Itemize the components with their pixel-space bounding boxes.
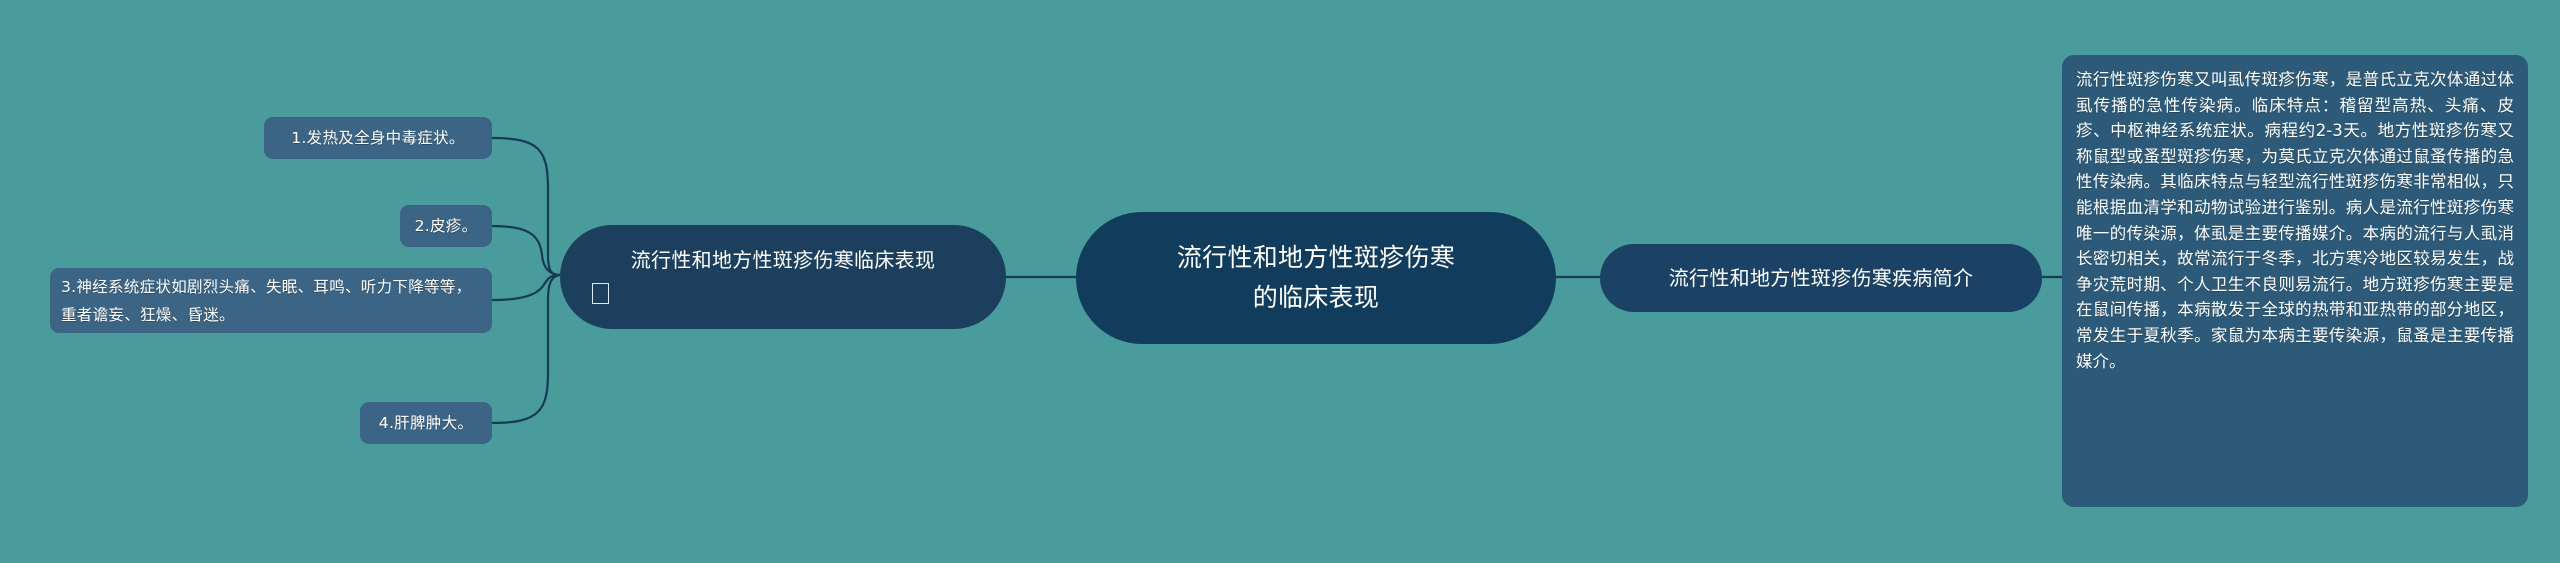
description-panel[interactable]: 流行性斑疹伤寒又叫虱传斑疹伤寒，是普氏立克次体通过体虱传播的急性传染病。临床特点… [2062,55,2528,507]
leaf-node-1-label: 1.发热及全身中毒症状。 [291,127,464,150]
branch-node-disease-intro-label: 流行性和地方性斑疹伤寒疾病简介 [1669,263,1974,293]
link-leaf-2 [492,226,560,275]
leaf-node-2-label: 2.皮疹。 [415,215,478,238]
branch-node-disease-intro[interactable]: 流行性和地方性斑疹伤寒疾病简介 [1600,244,2042,312]
description-panel-text: 流行性斑疹伤寒又叫虱传斑疹伤寒，是普氏立克次体通过体虱传播的急性传染病。临床特点… [2076,70,2514,371]
root-node-line-1: 流行性和地方性斑疹伤寒 [1177,238,1455,278]
branch-node-clinical-manifestations[interactable]: 流行性和地方性斑疹伤寒临床表现 [560,225,1006,329]
branch-node-label: 流行性和地方性斑疹伤寒临床表现 [631,248,936,272]
missing-glyph-icon [592,283,609,304]
leaf-node-2[interactable]: 2.皮疹。 [400,205,492,247]
leaf-node-4[interactable]: 4.肝脾肿大。 [360,402,492,444]
leaf-node-3-label: 3.神经系统症状如剧烈头痛、失眠、耳鸣、听力下降等等，重者谵妄、狂燥、昏迷。 [61,273,481,329]
leaf-node-1[interactable]: 1.发热及全身中毒症状。 [264,117,492,159]
leaf-node-4-label: 4.肝脾肿大。 [379,412,473,435]
link-leaf-3 [492,275,560,300]
link-leaf-1 [492,138,560,275]
root-node[interactable]: 流行性和地方性斑疹伤寒 的临床表现 [1076,212,1556,344]
link-leaf-4 [492,275,560,423]
root-node-line-2: 的临床表现 [1253,278,1380,318]
mindmap-canvas: 1.发热及全身中毒症状。 2.皮疹。 3.神经系统症状如剧烈头痛、失眠、耳鸣、听… [0,0,2560,563]
leaf-node-3[interactable]: 3.神经系统症状如剧烈头痛、失眠、耳鸣、听力下降等等，重者谵妄、狂燥、昏迷。 [50,268,492,333]
